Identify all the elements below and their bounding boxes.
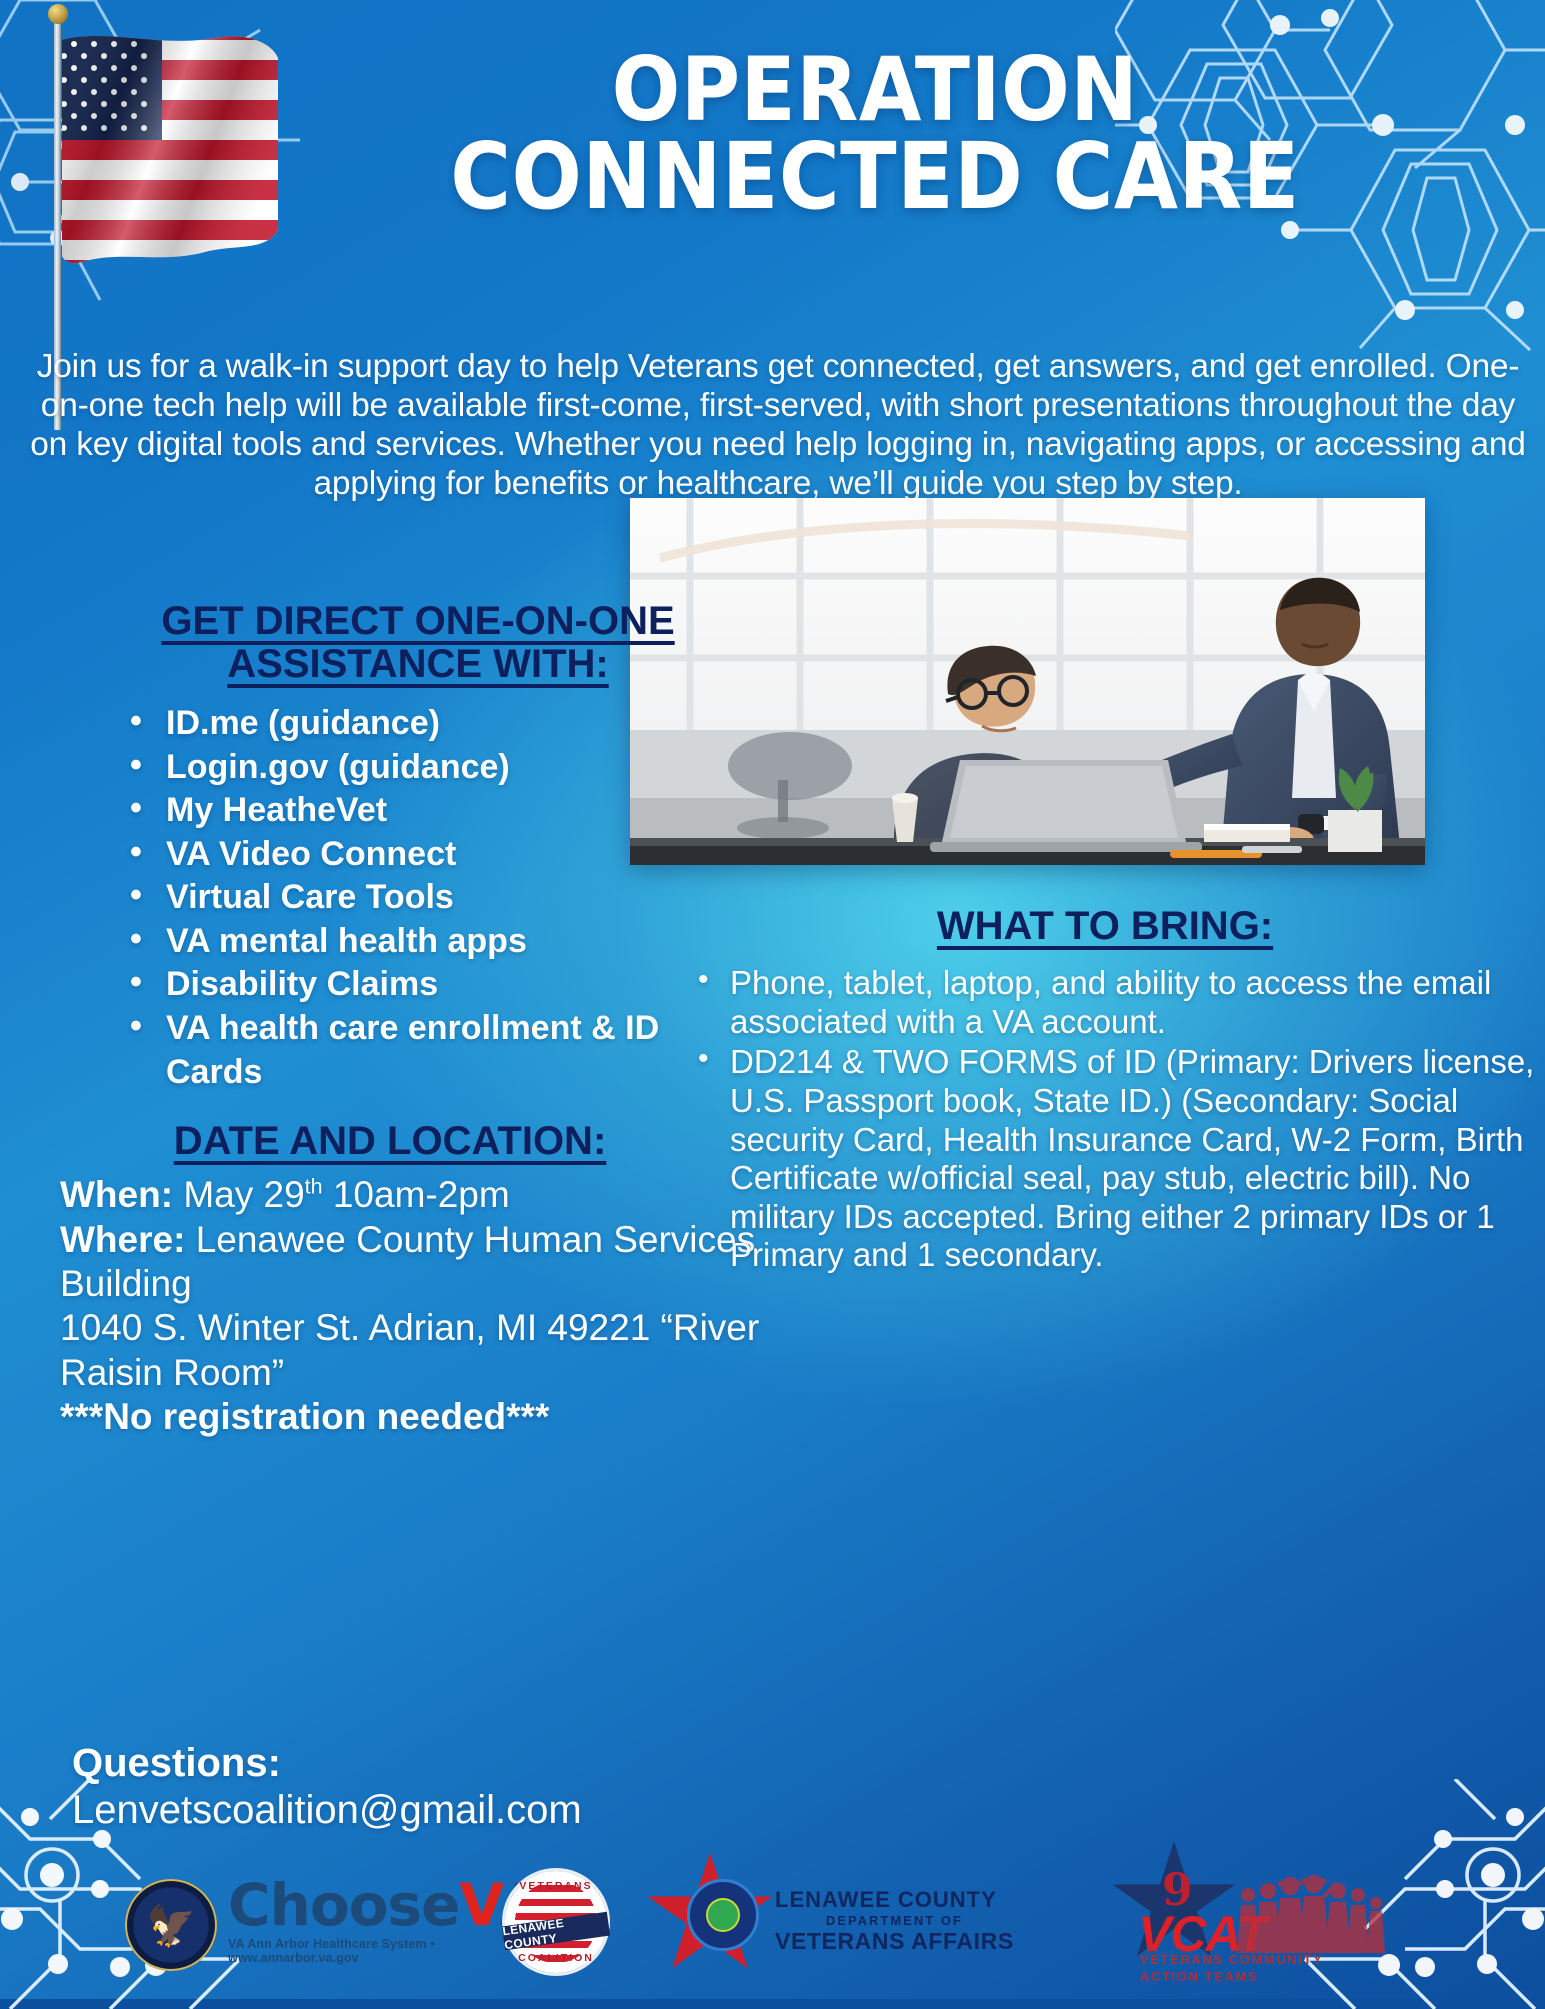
intro-paragraph: Join us for a walk-in support day to hel… — [28, 348, 1528, 503]
list-item: ID.me (guidance) — [122, 702, 760, 746]
list-item: Virtual Care Tools — [122, 876, 760, 920]
assistance-heading: GET DIRECT ONE-ON-ONE ASSISTANCE WITH: — [88, 600, 748, 686]
footer-logos: 🦅 ChooseVA VA Ann Arbor Healthcare Syste… — [0, 1839, 1545, 1999]
when-ordinal-suffix: th — [305, 1175, 323, 1199]
headline-line-2: CONNECTED CARE — [355, 135, 1395, 220]
what-to-bring-heading: WHAT TO BRING: — [680, 905, 1530, 948]
vcat-logo: 9 VCAT VETERANS COMMUNITY ACTION TEAMS — [1090, 1847, 1390, 1977]
when-label: When: — [60, 1174, 173, 1215]
vcat-subtitle-2: ACTION TEAMS — [1140, 1969, 1258, 1984]
list-item: VA mental health apps — [122, 920, 760, 964]
questions-block: Questions: Lenvetscoalition@gmail.com — [72, 1740, 582, 1834]
left-column: GET DIRECT ONE-ON-ONE ASSISTANCE WITH: I… — [60, 600, 760, 1440]
list-item: Phone, tablet, laptop, and ability to ac… — [690, 964, 1540, 1041]
address-line: 1040 S. Winter St. Adrian, MI 49221 “Riv… — [60, 1306, 760, 1395]
dept-line-2: DEPARTMENT OF — [775, 1913, 1014, 1928]
county-seal-icon — [687, 1879, 759, 1951]
date-location-heading: DATE AND LOCATION: — [80, 1120, 700, 1163]
no-registration-note: ***No registration needed*** — [60, 1395, 760, 1439]
flag-pole-finial — [48, 4, 68, 24]
poster-canvas: OPERATION CONNECTED CARE Join us for a w… — [0, 0, 1545, 1999]
list-item: Login.gov (guidance) — [122, 746, 760, 790]
eagle-icon: 🦅 — [146, 1902, 196, 1949]
lenawee-county-veterans-affairs-wordmark: LENAWEE COUNTY DEPARTMENT OF VETERANS AF… — [775, 1887, 1014, 1955]
assistance-list: ID.me (guidance) Login.gov (guidance) My… — [122, 702, 760, 1094]
list-item: VA health care enrollment & ID Cards — [122, 1007, 760, 1094]
when-value-pre: May 29 — [183, 1174, 304, 1215]
choose-va-text: Choose — [228, 1871, 459, 1939]
what-to-bring-list: Phone, tablet, laptop, and ability to ac… — [690, 964, 1540, 1275]
right-column: WHAT TO BRING: Phone, tablet, laptop, an… — [680, 905, 1540, 1277]
va-seal-logo: 🦅 — [125, 1879, 217, 1971]
list-item: Disability Claims — [122, 963, 760, 1007]
veterans-coalition-badge: VETERANS LENAWEE COUNTY COALITION — [505, 1871, 607, 1973]
county-seal-inner — [706, 1898, 740, 1932]
badge-top-text: VETERANS — [509, 1880, 603, 1892]
dept-line-1: LENAWEE COUNTY — [775, 1887, 1014, 1913]
where-line: Where: Lenawee County Human Services Bui… — [60, 1218, 760, 1307]
list-item: VA Video Connect — [122, 833, 760, 877]
list-item: My HeatheVet — [122, 789, 760, 833]
lenawee-county-star-logo — [645, 1853, 775, 1977]
people-silhouette-icon — [1238, 1875, 1388, 1953]
vcat-subtitle-1: VETERANS COMMUNITY — [1140, 1952, 1323, 1967]
questions-email[interactable]: Lenvetscoalition@gmail.com — [72, 1787, 582, 1834]
questions-label: Questions: — [72, 1740, 582, 1787]
list-item: DD214 & TWO FORMS of ID (Primary: Driver… — [690, 1043, 1540, 1275]
dept-line-3: VETERANS AFFAIRS — [775, 1928, 1014, 1955]
choose-va-v: V — [459, 1871, 499, 1939]
where-label: Where: — [60, 1219, 185, 1260]
badge-bottom-text: COALITION — [509, 1952, 603, 1964]
when-value-post: 10am-2pm — [323, 1174, 510, 1215]
headline-line-1: OPERATION — [345, 50, 1406, 131]
when-line: When: May 29th 10am-2pm — [60, 1173, 760, 1217]
date-location-body: When: May 29th 10am-2pm Where: Lenawee C… — [60, 1173, 760, 1439]
page-title: OPERATION CONNECTED CARE — [355, 50, 1395, 220]
